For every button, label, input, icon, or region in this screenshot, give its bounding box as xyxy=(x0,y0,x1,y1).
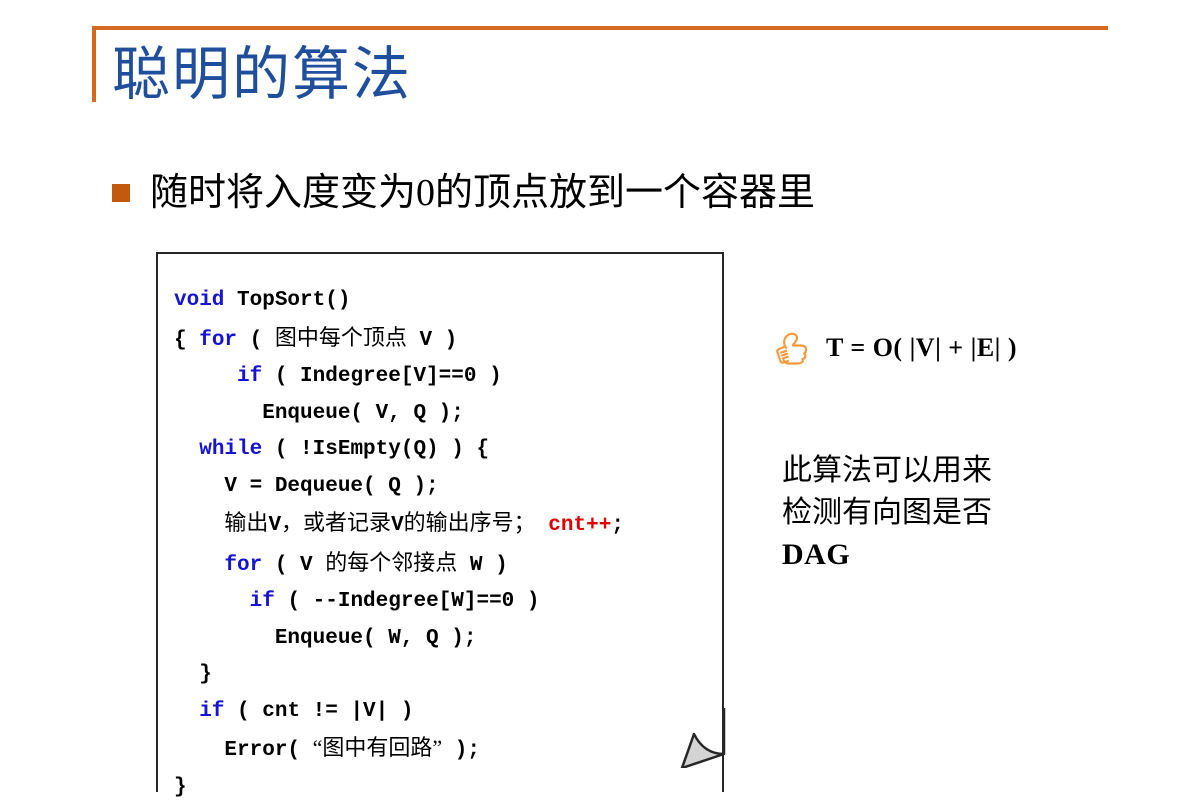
thumbs-up-icon xyxy=(772,328,812,368)
complexity-formula: T = O( |V| + |E| ) xyxy=(826,333,1017,363)
square-bullet-icon xyxy=(112,184,130,202)
code-listing: void TopSort() { for ( 图中每个顶点 V ) if ( I… xyxy=(174,283,734,806)
bullet-text: 随时将入度变为0的顶点放到一个容器里 xyxy=(150,170,815,216)
side-note-line-2: 检测有向图是否 xyxy=(782,492,1062,534)
title-top-rule xyxy=(92,26,1108,30)
side-note-line-3: DAG xyxy=(782,534,1062,576)
title-left-rule xyxy=(92,26,96,102)
complexity-row: T = O( |V| + |E| ) xyxy=(772,328,1017,368)
page-title: 聪明的算法 xyxy=(112,40,412,110)
side-note-line-1: 此算法可以用来 xyxy=(782,450,1062,492)
side-note: 此算法可以用来 检测有向图是否 DAG xyxy=(782,450,1062,576)
bullet-row: 随时将入度变为0的顶点放到一个容器里 xyxy=(112,170,815,216)
